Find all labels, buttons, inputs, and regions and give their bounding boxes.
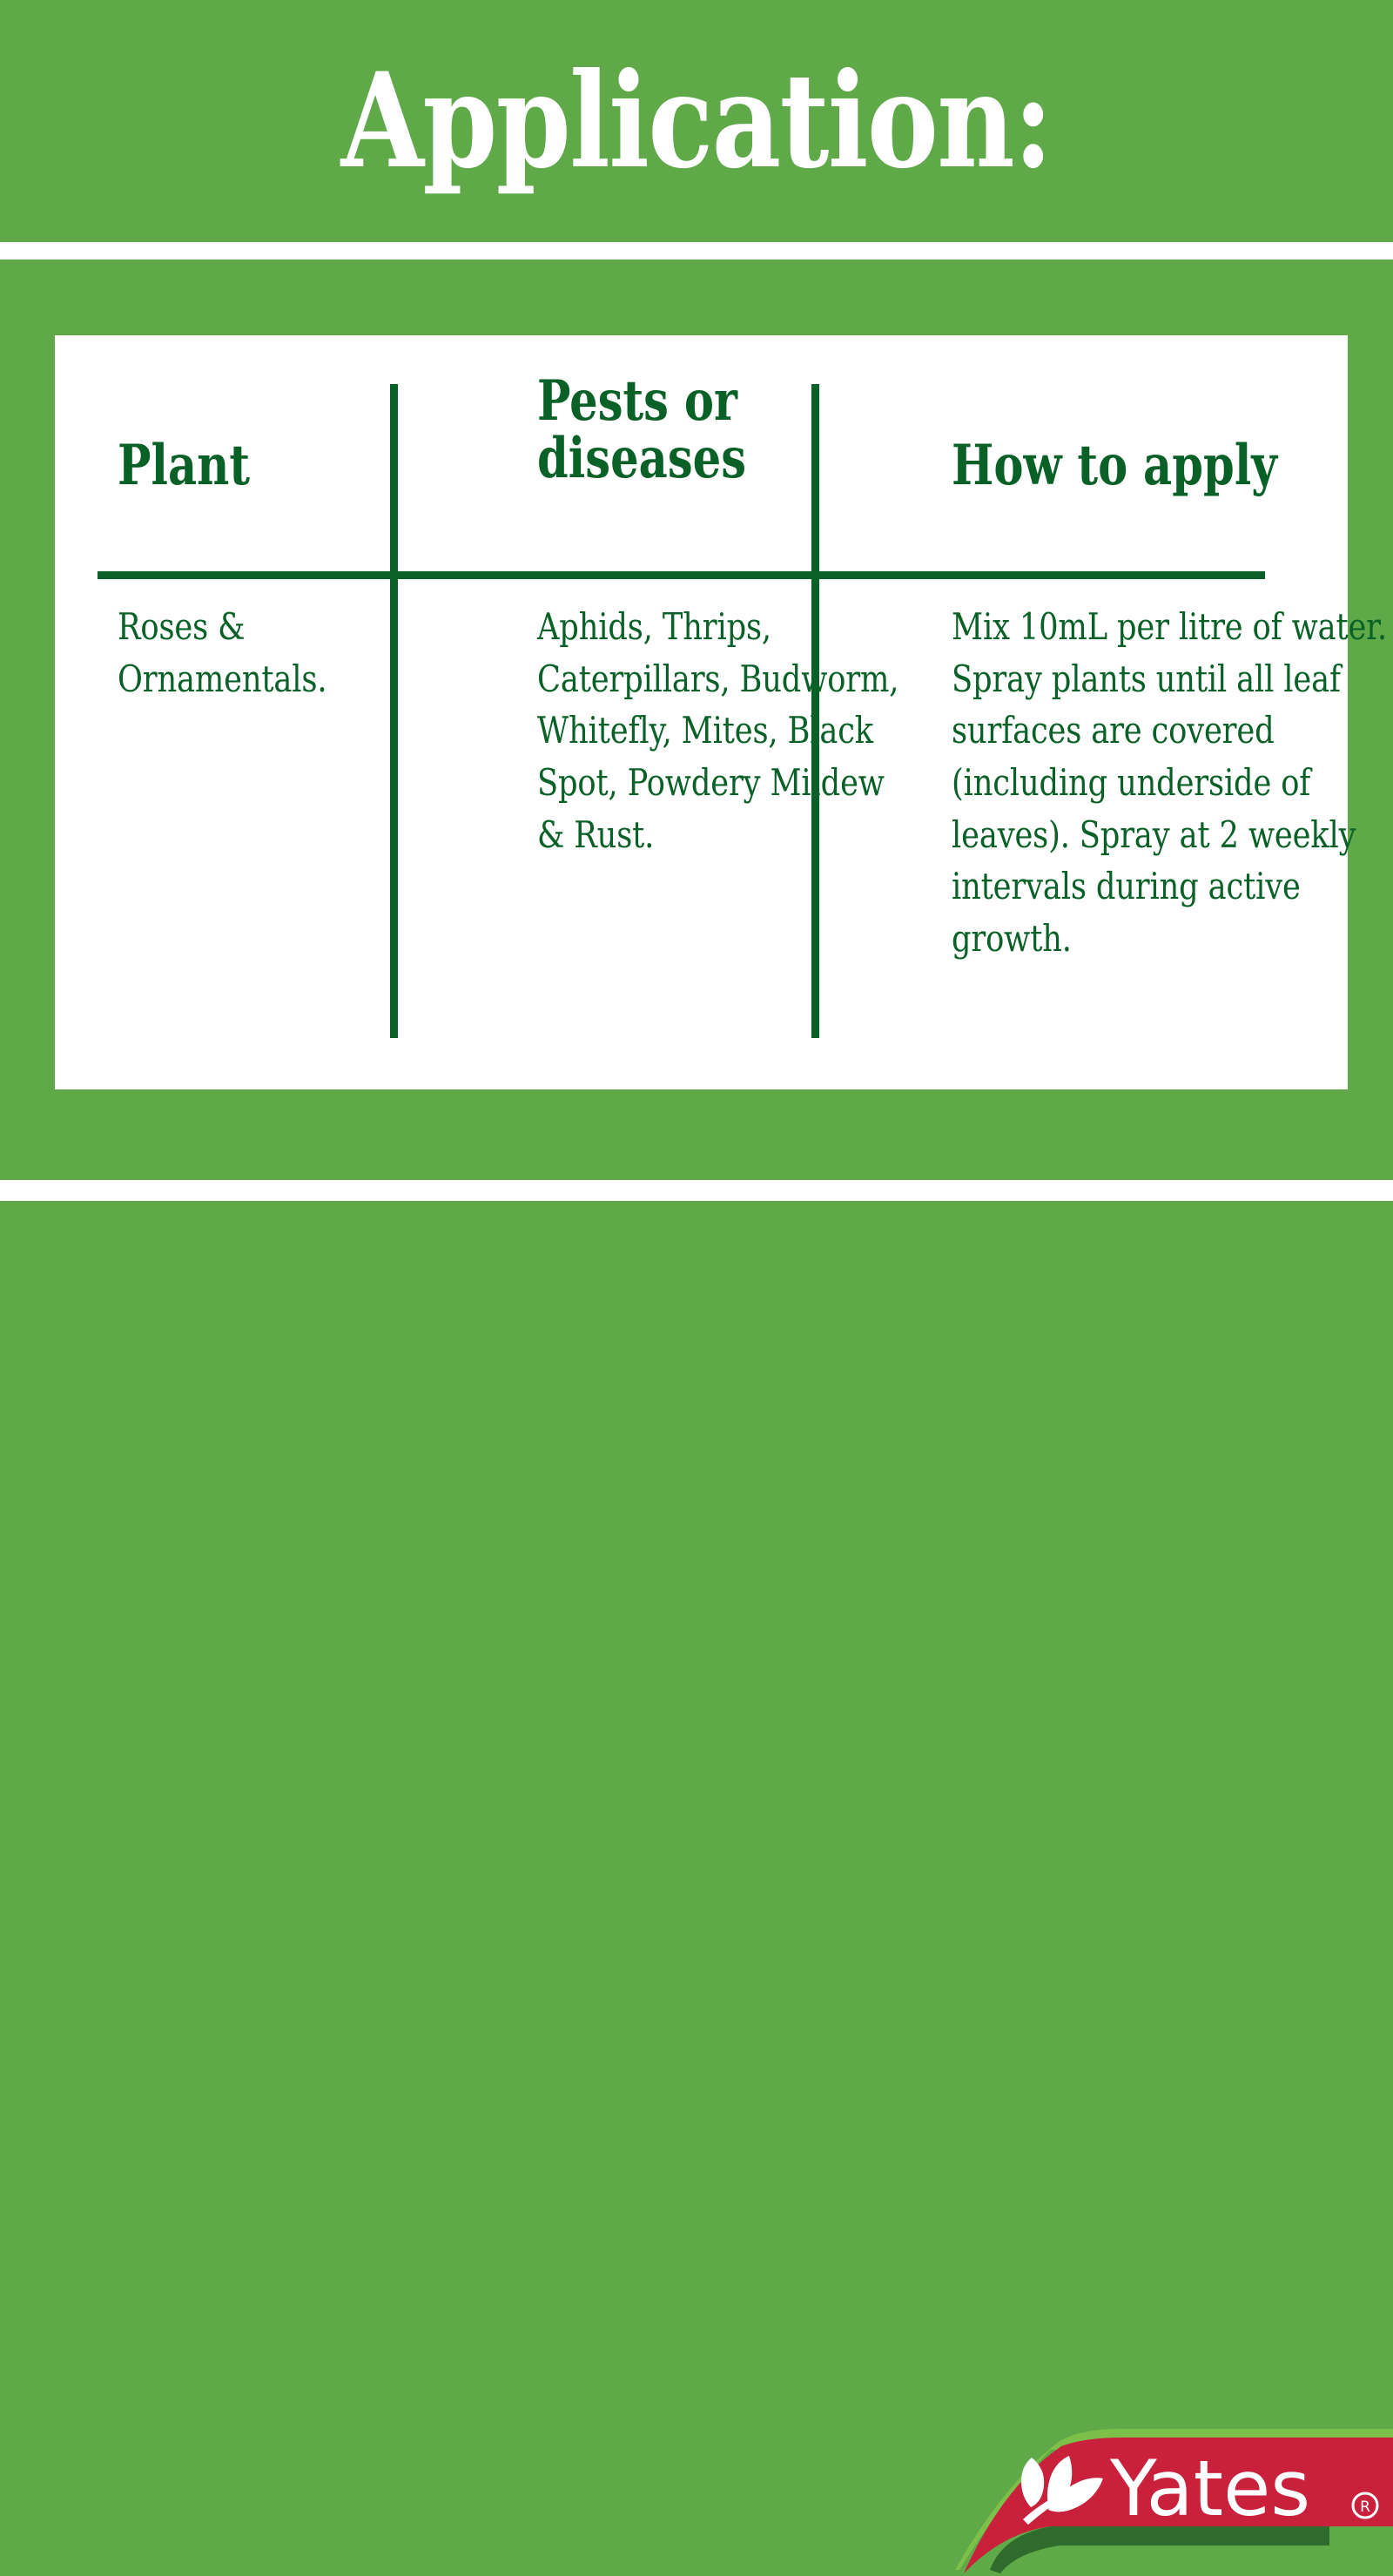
- poster-root: Application: Plant Pests or diseases How…: [0, 0, 1393, 1393]
- cell-plant: Roses & Ornamentals.: [118, 601, 410, 705]
- logo-shadow-shape: [990, 2526, 1329, 2573]
- header-band: Application:: [0, 0, 1393, 242]
- cell-pests: Aphids, Thrips, Caterpillars, Budworm, W…: [537, 601, 906, 860]
- column-header-plant: Plant: [118, 437, 396, 495]
- page-title: Application:: [341, 56, 1052, 186]
- cell-how-to-apply: Mix 10mL per litre of water. Spray plant…: [952, 601, 1393, 964]
- column-header-pests: Pests or diseases: [537, 373, 899, 488]
- footer-band: Yates R: [0, 1201, 1393, 1393]
- application-table-card: Plant Pests or diseases How to apply Ros…: [55, 335, 1348, 1089]
- logo-wordmark: Yates: [1109, 2444, 1310, 2533]
- header-rule: [98, 571, 1265, 579]
- yates-logo: Yates R: [955, 2424, 1393, 2576]
- column-header-how-to-apply: How to apply: [952, 437, 1383, 495]
- application-table: Plant Pests or diseases How to apply Ros…: [55, 335, 1348, 1089]
- logo-registered-mark: R: [1360, 2498, 1370, 2516]
- divider-bottom: [0, 1180, 1393, 1201]
- divider-top: [0, 242, 1393, 260]
